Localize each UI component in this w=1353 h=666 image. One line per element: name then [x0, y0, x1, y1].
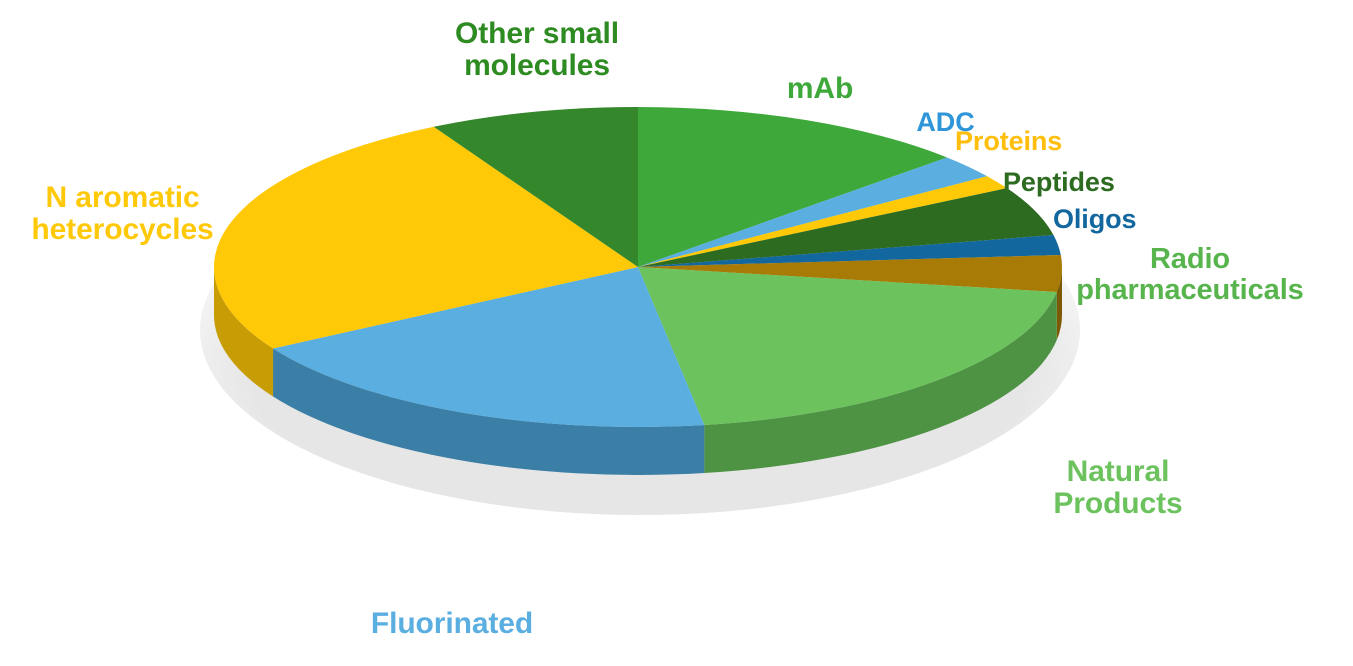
pie-label-natural-products: Natural Products: [1023, 456, 1213, 520]
pie-label-peptides: Peptides: [1003, 168, 1163, 197]
pie-top-face: [214, 107, 1062, 427]
pie-label-oligos: Oligos: [1053, 205, 1183, 234]
pie-label-fluorinated: Fluorinated: [337, 608, 567, 640]
pie-label-proteins: Proteins: [955, 127, 1105, 156]
pie-label-mab: mAb: [760, 73, 880, 105]
pie-label-n-aromatic: N aromatic heterocycles: [15, 182, 230, 246]
pie-label-radiopharmaceuticals: Radio pharmaceuticals: [1040, 244, 1340, 305]
pie-label-other-small-molecules: Other small molecules: [432, 18, 642, 82]
pie-chart-svg: [0, 0, 1353, 666]
pie-chart: Other small moleculesmAbADCProteinsPepti…: [0, 0, 1353, 666]
